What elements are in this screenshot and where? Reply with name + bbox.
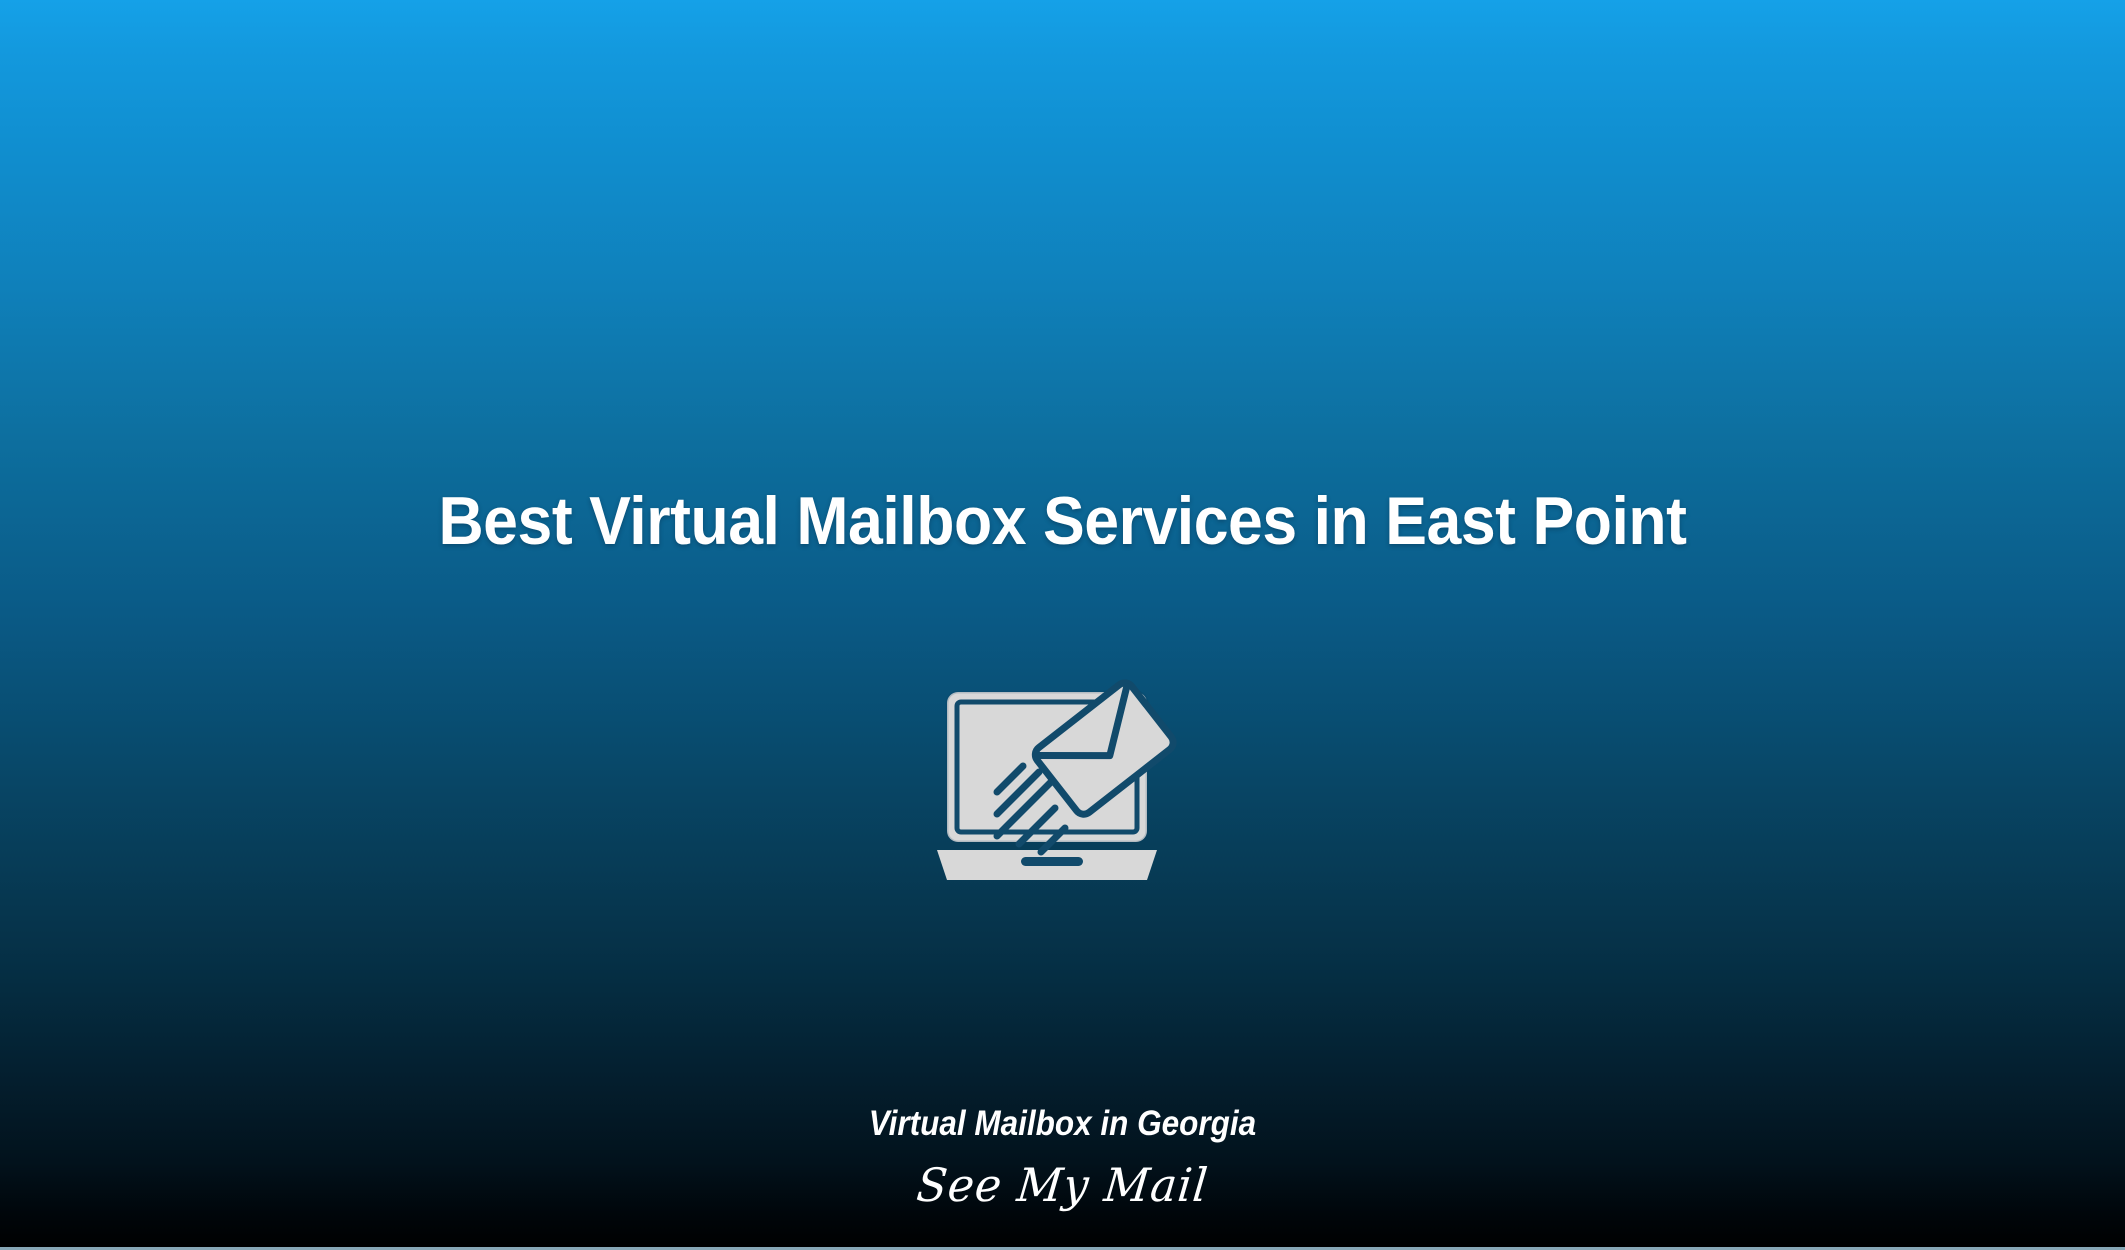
page-title: Best Virtual Mailbox Services in East Po… <box>85 486 2040 557</box>
slide-footer: Virtual Mailbox in Georgia See My Mail <box>0 1104 2125 1212</box>
subtitle: Virtual Mailbox in Georgia <box>106 1104 2019 1144</box>
brand-logo-text: See My Mail <box>40 1158 2085 1212</box>
title-slide: Best Virtual Mailbox Services in East Po… <box>0 0 2125 1250</box>
laptop-envelope-icon <box>933 672 1193 898</box>
slide-content: Best Virtual Mailbox Services in East Po… <box>0 0 2125 1250</box>
